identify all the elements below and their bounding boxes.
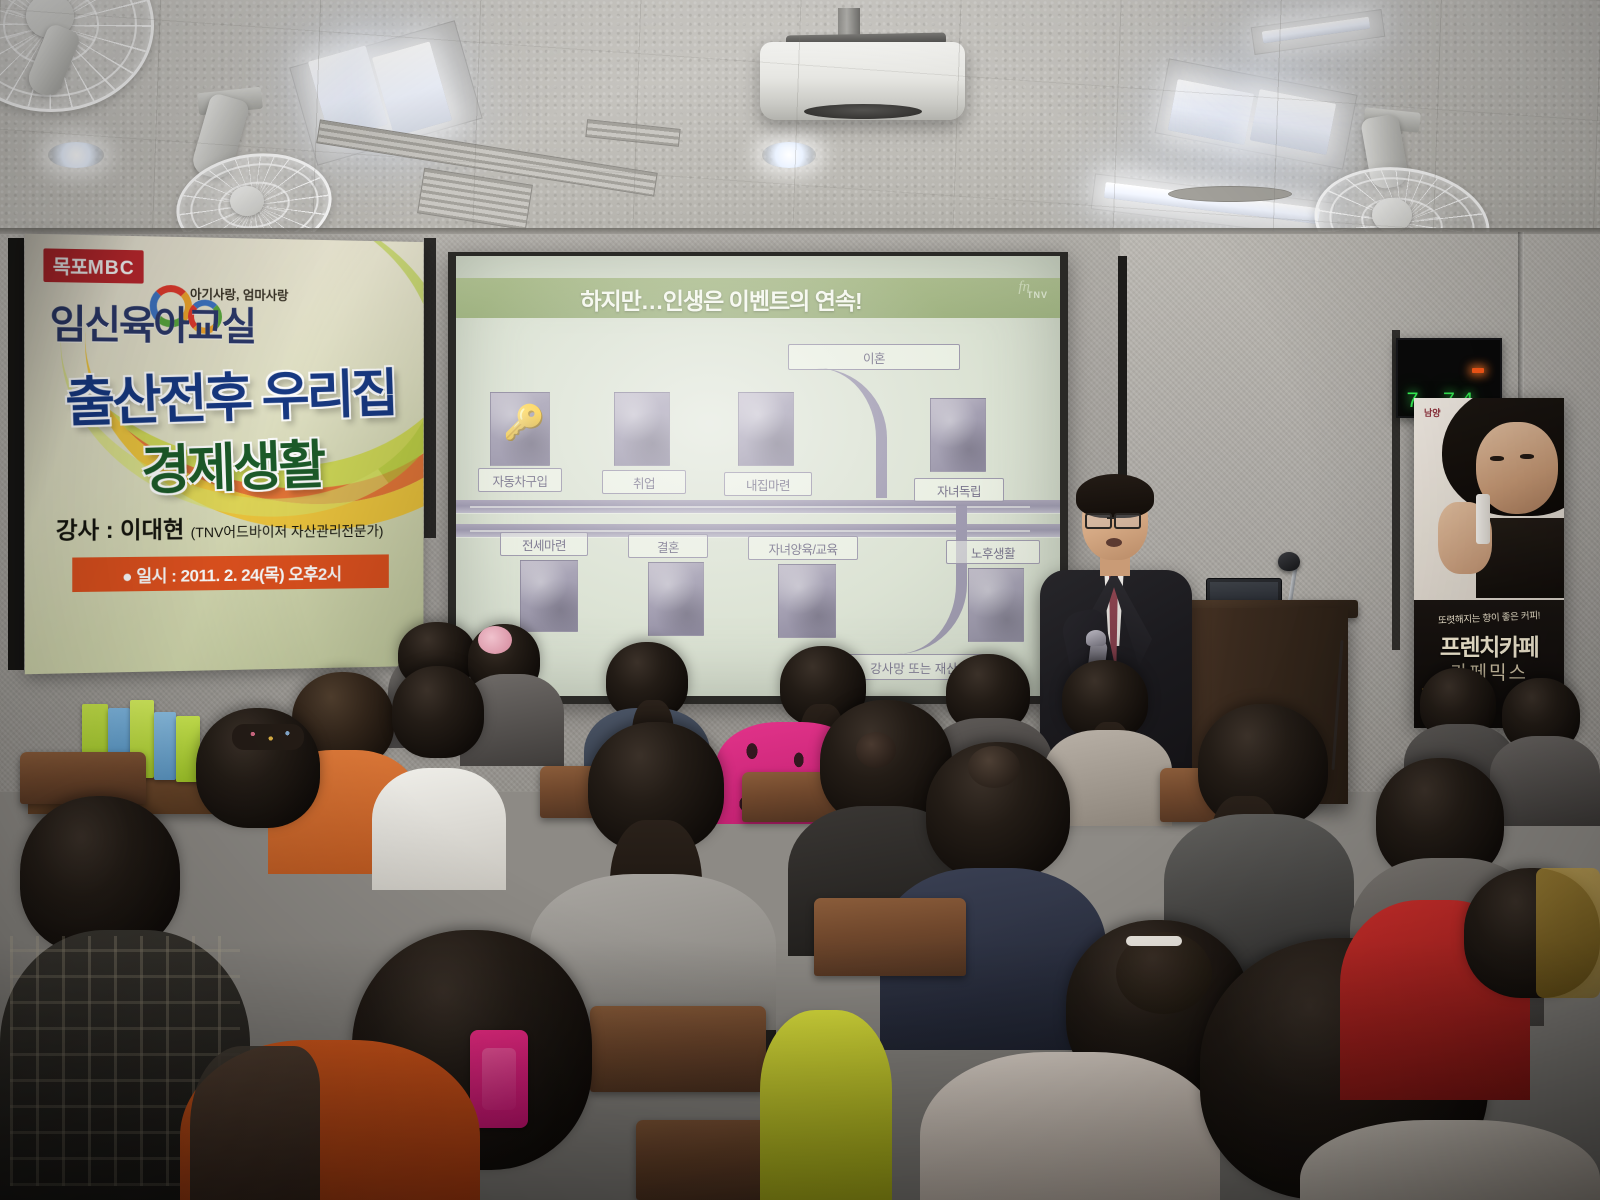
speaker-hair (1076, 474, 1154, 518)
glasses-icon (1085, 513, 1112, 529)
chair (590, 1006, 766, 1092)
slide-thumbnail (614, 392, 670, 466)
fluorescent-panel (1250, 89, 1336, 155)
fluorescent-panel (1262, 17, 1371, 44)
fluorescent-frame (1251, 9, 1386, 55)
ceiling-speaker-grille (1168, 186, 1292, 202)
projector-mount (838, 8, 860, 48)
slide-branch-line (804, 368, 887, 498)
wall-fan-center (152, 90, 332, 250)
downlight (762, 142, 816, 168)
slide-label-divorce: 이혼 (788, 344, 960, 370)
ceiling-wall-seam (0, 228, 1600, 234)
slide-title: 하지만…인생은 이벤트의 연속! (456, 282, 986, 316)
glasses-icon (1114, 513, 1141, 529)
fluorescent-panel (308, 45, 388, 140)
fluorescent-panel (1168, 79, 1254, 145)
photo-scene: 목포MBC 아기사랑, 엄마사랑 임신육아교실 출산전후 우리집 경제생활 강사… (0, 0, 1600, 1200)
floral-hair-band-pattern (240, 726, 304, 746)
car-key-icon: 🔑 (503, 403, 545, 443)
hair-clip (968, 746, 1020, 788)
fluorescent-frame (1155, 58, 1358, 169)
audience-head (392, 666, 484, 758)
air-vent (585, 119, 680, 147)
audience-body-cream-fleece (920, 1052, 1220, 1200)
audience-body-white (372, 768, 506, 890)
slide-label-car-purchase: 자동차구입 (478, 468, 562, 492)
audience-body (1490, 736, 1600, 826)
poster-model-eye (1520, 454, 1534, 459)
fluorescent-panel (372, 41, 452, 136)
led-indicator (1472, 368, 1484, 373)
projector (760, 8, 970, 128)
projector-arms (786, 33, 946, 48)
audience-body-yellow (760, 1010, 892, 1200)
speaker-mouth (1106, 538, 1122, 547)
hair-flower-clip (478, 626, 512, 654)
audience-body-olive (1536, 868, 1600, 998)
air-vent (316, 119, 658, 196)
projector-body (760, 42, 965, 120)
poster-brand-logo: 남양 (1424, 406, 1441, 419)
wall-fan-left (0, 0, 158, 118)
fluorescent-frame (289, 20, 482, 165)
downlight (48, 142, 104, 168)
fur-trim (190, 1046, 320, 1200)
slide-label-childrearing: 자녀양육/교육 (748, 536, 858, 560)
slide-label-employment: 취업 (602, 470, 686, 494)
chair (814, 898, 966, 976)
white-hair-tie (1126, 936, 1182, 946)
slide-label-retirement: 노후생활 (946, 540, 1040, 564)
slide-label-child-independence: 자녀독립 (914, 478, 1004, 502)
slide-thumbnail: 🔑 (490, 392, 550, 466)
ceiling-texture (0, 0, 1600, 250)
audience (0, 600, 1600, 1200)
slide-label-jeonse: 전세마련 (500, 532, 588, 556)
pink-hair-clip-inner (482, 1048, 516, 1110)
slide-label-home-purchase: 내집마련 (724, 472, 812, 496)
gooseneck-mic-head (1278, 552, 1300, 571)
ceiling (0, 0, 1600, 250)
poster-coffee-stick (1476, 494, 1490, 544)
banner-frame-right (424, 238, 436, 538)
glasses-bridge (1107, 517, 1115, 519)
slide-label-marriage: 결혼 (628, 534, 708, 558)
slide-thumbnail (738, 392, 794, 466)
fluorescent-panel (1104, 182, 1320, 224)
hair-clip (856, 732, 896, 768)
projector-lens (804, 104, 922, 119)
air-vent (417, 168, 533, 231)
poster-model-eye (1490, 456, 1504, 461)
tnv-logo: TNV (1027, 290, 1048, 300)
slide-thumbnail (930, 398, 986, 472)
